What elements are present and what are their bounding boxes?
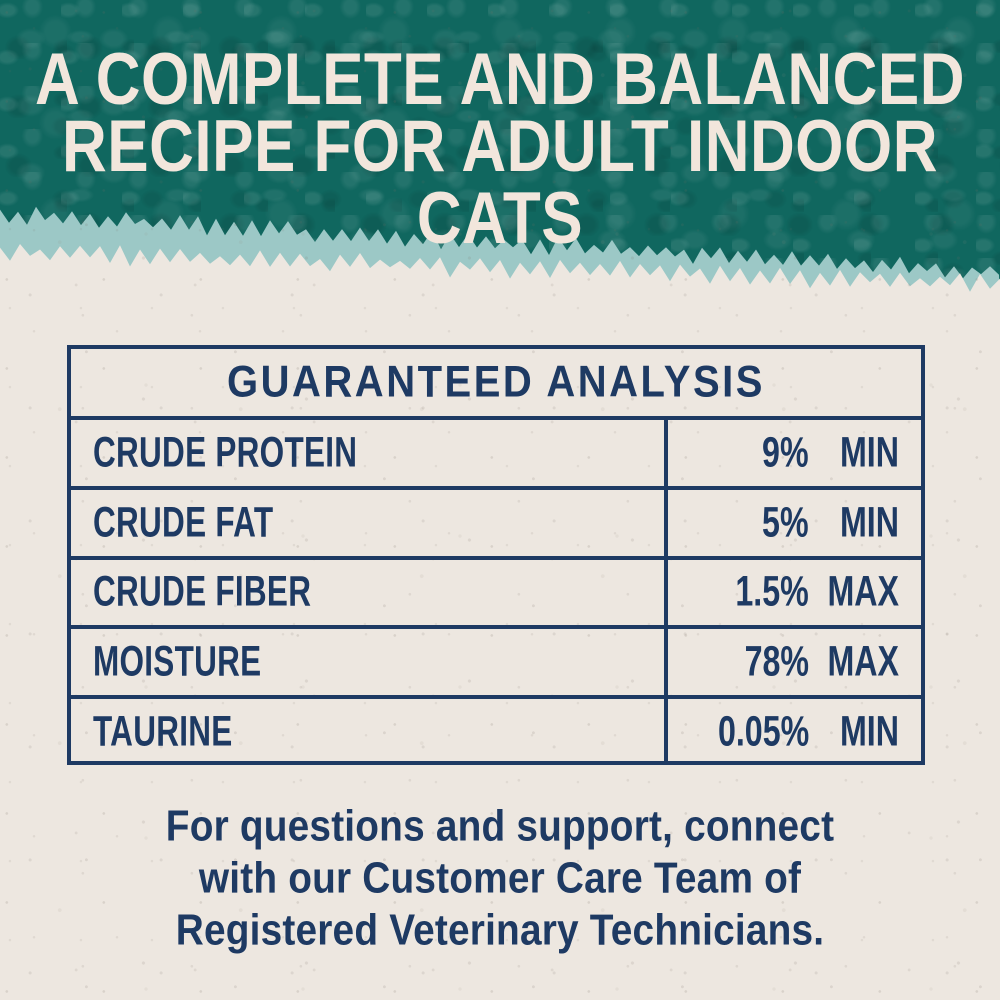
- nutrient-cell: CRUDE PROTEIN: [71, 420, 668, 486]
- table-row: CRUDE PROTEIN9%MIN: [71, 420, 921, 490]
- nutrient-qualifier: MAX: [820, 638, 899, 687]
- nutrient-amount: 1.5%: [736, 568, 809, 617]
- nutrient-qualifier: MIN: [820, 708, 899, 757]
- support-line-1: For questions and support, connect: [73, 797, 927, 854]
- nutrient-label: CRUDE FAT: [93, 498, 273, 547]
- nutrient-amount: 0.05%: [718, 708, 809, 757]
- nutrient-cell: MOISTURE: [71, 629, 668, 695]
- table-row: CRUDE FAT5%MIN: [71, 490, 921, 560]
- value-cell: 9%MIN: [668, 420, 921, 486]
- nutrient-amount: 5%: [762, 498, 809, 547]
- page-title: A COMPLETE AND BALANCED RECIPE FOR ADULT…: [0, 44, 1000, 234]
- support-line-2: with our Customer Care Team of: [73, 849, 927, 906]
- table-row: MOISTURE78%MAX: [71, 629, 921, 699]
- nutrient-label: TAURINE: [93, 708, 233, 757]
- nutrient-cell: TAURINE: [71, 699, 668, 765]
- packaging-panel: A COMPLETE AND BALANCED RECIPE FOR ADULT…: [0, 0, 1000, 1000]
- nutrient-label: CRUDE FIBER: [93, 568, 311, 617]
- nutrient-label: MOISTURE: [93, 638, 261, 687]
- table-title: GUARANTEED ANALYSIS: [227, 357, 765, 407]
- nutrient-qualifier: MAX: [820, 568, 899, 617]
- support-line-3: Registered Veterinary Technicians.: [73, 901, 927, 958]
- headline-line-2: RECIPE FOR ADULT INDOOR CATS: [0, 111, 1000, 256]
- table-row: CRUDE FIBER1.5%MAX: [71, 560, 921, 630]
- value-cell: 5%MIN: [668, 490, 921, 556]
- table-body: CRUDE PROTEIN9%MINCRUDE FAT5%MINCRUDE FI…: [71, 420, 921, 765]
- nutrient-cell: CRUDE FIBER: [71, 560, 668, 626]
- nutrient-cell: CRUDE FAT: [71, 490, 668, 556]
- value-cell: 1.5%MAX: [668, 560, 921, 626]
- guaranteed-analysis-table: GUARANTEED ANALYSIS CRUDE PROTEIN9%MINCR…: [67, 345, 925, 765]
- nutrient-amount: 78%: [745, 638, 809, 687]
- table-header: GUARANTEED ANALYSIS: [71, 349, 921, 420]
- table-row: TAURINE0.05%MIN: [71, 699, 921, 765]
- value-cell: 78%MAX: [668, 629, 921, 695]
- nutrient-amount: 9%: [762, 428, 809, 477]
- nutrient-qualifier: MIN: [820, 428, 899, 477]
- value-cell: 0.05%MIN: [668, 699, 921, 765]
- nutrient-label: CRUDE PROTEIN: [93, 428, 357, 477]
- support-message: For questions and support, connect with …: [60, 800, 940, 956]
- nutrient-qualifier: MIN: [820, 498, 899, 547]
